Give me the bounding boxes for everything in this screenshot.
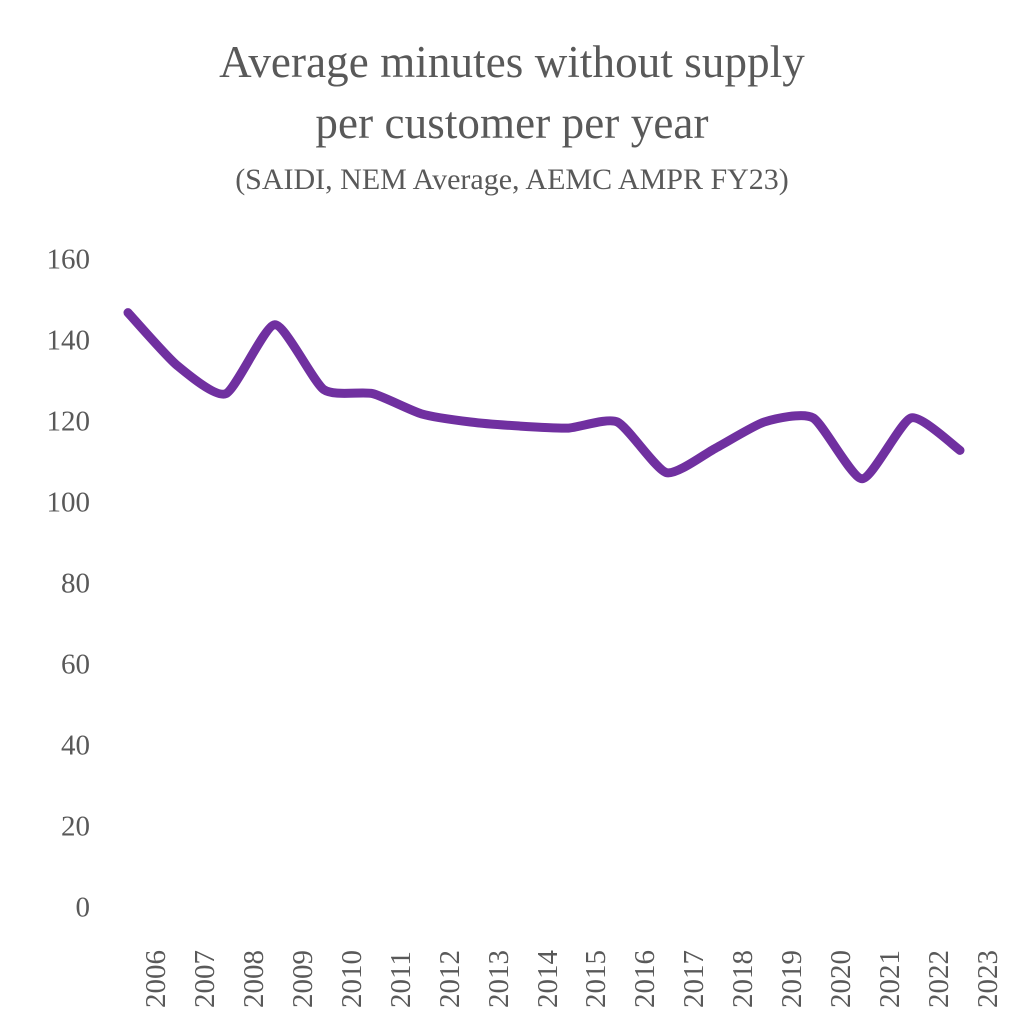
y-axis-tick-label: 80 (0, 568, 90, 601)
y-axis-tick-label: 60 (0, 649, 90, 682)
x-axis-tick-label: 2016 (629, 950, 662, 1008)
x-axis-tick-label: 2013 (483, 950, 516, 1008)
x-axis-tick-label: 2008 (238, 950, 271, 1008)
data-line-saidi-nem-average (128, 313, 960, 479)
chart-container: Average minutes without supply per custo… (0, 0, 1024, 1024)
y-axis-tick-label: 0 (0, 892, 90, 925)
x-axis-tick-label: 2023 (972, 950, 1005, 1008)
x-axis-tick-label: 2022 (923, 950, 956, 1008)
plot-area: 0204060801001201401602006200720082009201… (0, 0, 1024, 1024)
x-axis-tick-label: 2017 (678, 950, 711, 1008)
x-axis-tick-label: 2015 (580, 950, 613, 1008)
x-axis-tick-label: 2012 (434, 950, 467, 1008)
y-axis-tick-label: 120 (0, 406, 90, 439)
x-axis-tick-label: 2021 (874, 950, 907, 1008)
x-axis-tick-label: 2009 (287, 950, 320, 1008)
x-axis-tick-label: 2014 (532, 950, 565, 1008)
y-axis-tick-label: 20 (0, 811, 90, 844)
y-axis-tick-label: 100 (0, 487, 90, 520)
y-axis-tick-label: 140 (0, 325, 90, 358)
y-axis-tick-label: 160 (0, 244, 90, 277)
x-axis-tick-label: 2011 (385, 951, 418, 1008)
x-axis-tick-label: 2018 (727, 950, 760, 1008)
x-axis-tick-label: 2006 (140, 950, 173, 1008)
x-axis-tick-label: 2020 (825, 950, 858, 1008)
y-axis-tick-label: 40 (0, 730, 90, 763)
line-series-svg (0, 0, 1024, 1024)
x-axis-tick-label: 2010 (336, 950, 369, 1008)
x-axis-tick-label: 2007 (189, 950, 222, 1008)
x-axis-tick-label: 2019 (776, 950, 809, 1008)
